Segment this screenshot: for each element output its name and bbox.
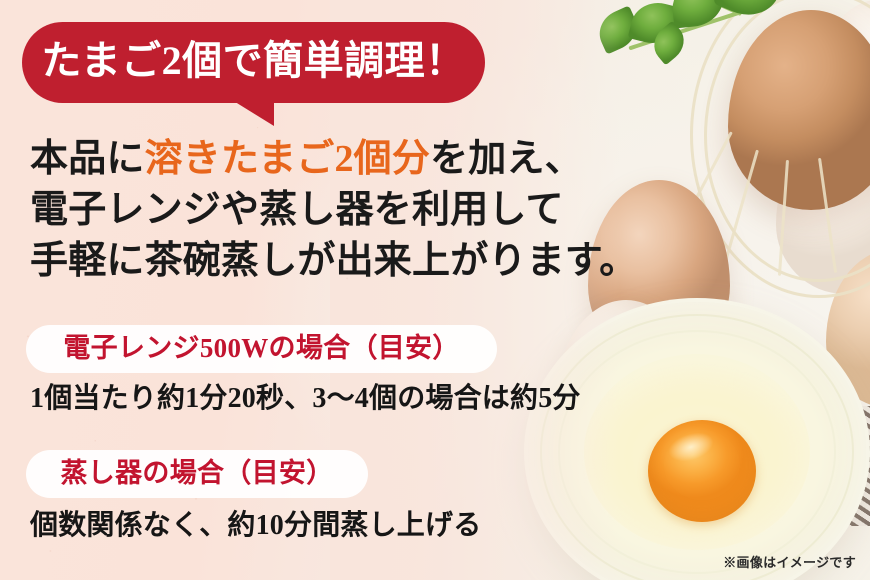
speech-bubble-tail-icon [232,100,274,126]
body-line-1-highlight: 溶きたまご2個分 [145,138,430,180]
method-pill-microwave-label: 電子レンジ500Wの場合（目安） [63,335,459,364]
method-pill-steamer-label: 蒸し器の場合（目安） [61,460,334,489]
method-note-steamer: 個数関係なく、約10分間蒸し上げる [30,512,481,540]
body-copy: 本品に溶きたまご2個分を加え、 電子レンジや蒸し器を利用して 手軽に茶碗蒸しが出… [30,134,575,287]
egg-yolk-icon [648,420,756,522]
headline-text: たまご2個で簡単調理！ [41,41,465,84]
body-line-1-pre: 本品に [30,138,145,180]
method-pill-steamer: 蒸し器の場合（目安） [26,450,368,498]
body-line-2: 電子レンジや蒸し器を利用して [30,185,575,236]
headline-speech-bubble: たまご2個で簡単調理！ [22,22,485,103]
method-pill-microwave: 電子レンジ500Wの場合（目安） [26,325,497,373]
ivy-leaf-icon [588,0,838,164]
body-line-1: 本品に溶きたまご2個分を加え、 [30,134,575,185]
method-note-microwave: 1個当たり約1分20秒、3〜4個の場合は約5分 [30,385,581,413]
image-disclaimer-footnote: ※画像はイメージです [723,552,856,571]
yolk-highlight [665,428,717,467]
promo-banner-root: たまご2個で簡単調理！ 本品に溶きたまご2個分を加え、 電子レンジや蒸し器を利用… [0,0,870,580]
body-line-1-post: を加え、 [430,138,583,180]
ivy-leaf [713,0,786,25]
body-line-3: 手軽に茶碗蒸しが出来上がります。 [30,236,575,287]
